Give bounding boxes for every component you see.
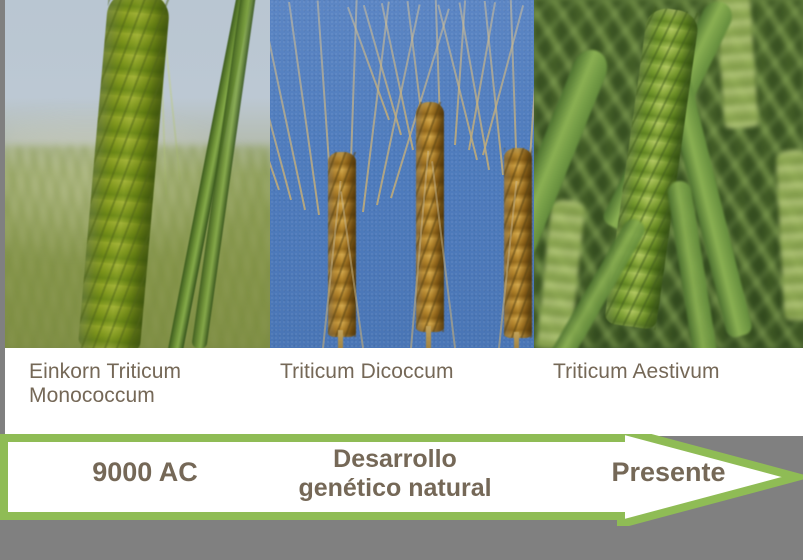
caption-band: Einkorn Triticum Monococcum Triticum Dic… xyxy=(5,348,803,436)
timeline-arrow: 9000 AC Desarrollo genético natural Pres… xyxy=(0,434,803,526)
emmer-blue-background xyxy=(270,0,534,348)
wheat-evolution-slide: Einkorn Triticum Monococcum Triticum Dic… xyxy=(0,0,803,560)
timeline-end-label: Presente xyxy=(576,457,761,488)
emmer-wheat-photo xyxy=(270,0,534,348)
einkorn-wheat-photo xyxy=(5,0,270,348)
caption-aestivum: Triticum Aestivum xyxy=(553,360,720,384)
timeline-start-label: 9000 AC xyxy=(50,457,240,488)
caption-einkorn: Einkorn Triticum Monococcum xyxy=(29,360,181,407)
caption-emmer: Triticum Dicoccum xyxy=(280,360,454,384)
timeline-middle-label: Desarrollo genético natural xyxy=(275,445,515,503)
bread-wheat-photo xyxy=(534,0,803,348)
photo-strip xyxy=(5,0,803,348)
